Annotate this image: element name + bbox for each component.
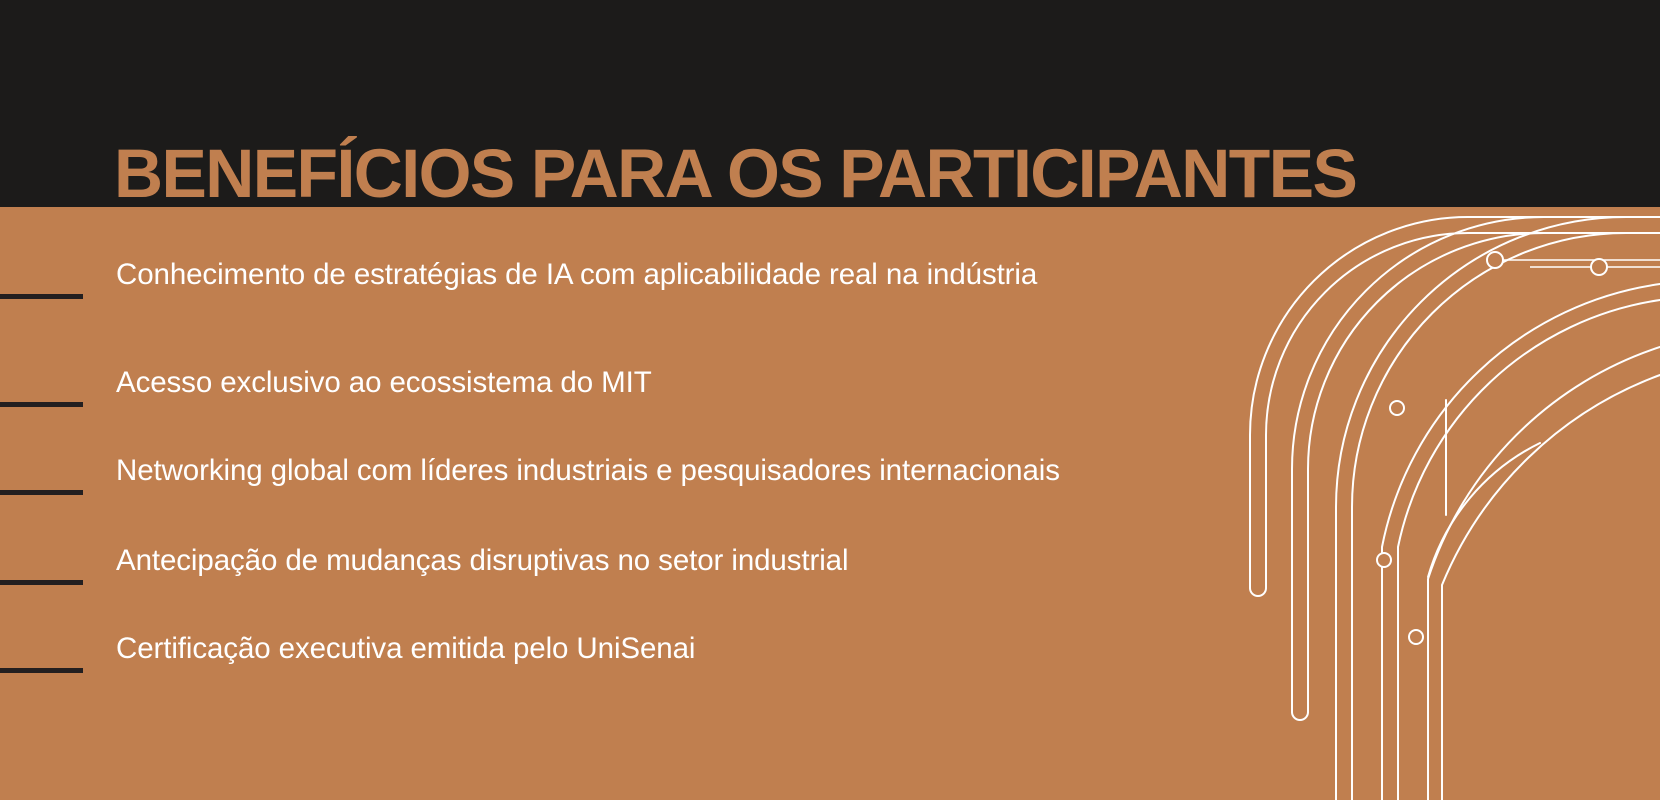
list-item: Antecipação de mudanças disruptivas no s… [0,536,1300,596]
list-item-label: Conhecimento de estratégias de IA com ap… [116,250,1037,300]
list-item: Certificação executiva emitida pelo UniS… [0,624,1300,684]
bullet-dash-icon [0,402,83,407]
bullet-dash-icon [0,668,83,673]
list-item-label: Networking global com líderes industriai… [116,446,1060,496]
benefits-list: Conhecimento de estratégias de IA com ap… [0,0,1300,800]
bullet-dash-icon [0,580,83,585]
list-item: Networking global com líderes industriai… [0,446,1300,506]
bullet-dash-icon [0,490,83,495]
list-item-label: Certificação executiva emitida pelo UniS… [116,624,695,674]
page-title: BENEFÍCIOS PARA OS PARTICIPANTES [114,138,1356,210]
list-item: Conhecimento de estratégias de IA com ap… [0,250,1300,310]
list-item-label: Antecipação de mudanças disruptivas no s… [116,536,848,586]
bullet-dash-icon [0,294,83,299]
list-item-label: Acesso exclusivo ao ecossistema do MIT [116,358,652,408]
list-item: Acesso exclusivo ao ecossistema do MIT [0,358,1300,418]
slide-canvas: BENEFÍCIOS PARA OS PARTICIPANTES Conheci… [0,0,1660,800]
